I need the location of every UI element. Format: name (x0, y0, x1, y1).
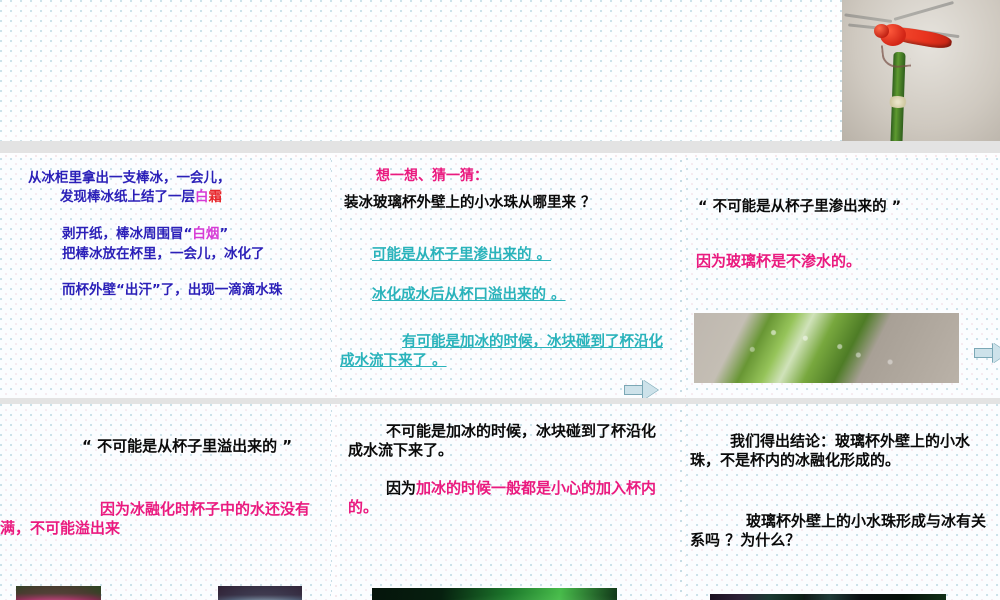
dragonfly-head-shape (874, 24, 889, 38)
slide5-statement: 不可能是加冰的时候，冰块碰到了杯沿化成水流下来了。 (348, 422, 668, 460)
slide-5-not-ice-spill[interactable]: 不可能是加冰的时候，冰块碰到了杯沿化成水流下来了。 因为加冰的时候一般都是小心的… (340, 404, 677, 600)
dark-water-drop-photo (804, 594, 946, 600)
blue-flower-photo (218, 586, 302, 600)
slide2-guess-2: 冰化成水后从杯口溢出来的 。 (372, 286, 672, 305)
slide3-quote: “ 不可能是从杯子里渗出来的 ” (698, 198, 988, 217)
red-dragonfly-photo (842, 0, 1000, 141)
slide1-baiyan-text: 白烟 (192, 226, 219, 242)
slide1-line-2-text: 发现棒冰纸上结了一层 (60, 189, 195, 205)
slide1-line-3-prefix: 剥开纸，棒冰周围冒“ (62, 226, 192, 242)
slide-1-observation[interactable]: 从冰柜里拿出一支棒冰，一会儿， 发现棒冰纸上结了一层白霜 剥开纸，棒冰周围冒“白… (0, 158, 331, 398)
arrow-head (993, 343, 1000, 363)
slide5-reason-prefix: 因为 (386, 479, 416, 497)
slide4-reason: 因为冰融化时杯子中的水还没有满，不可能溢出来 (0, 500, 310, 538)
slide-3-not-seeping[interactable]: “ 不可能是从杯子里渗出来的 ” 因为玻璃杯是不渗水的。 (686, 158, 1000, 398)
slide4-quote: “ 不可能是从杯子里溢出来的 ” (0, 437, 300, 456)
dragonfly-photo-backdrop (842, 0, 1000, 141)
next-arrow-icon[interactable] (624, 380, 658, 398)
slide3-reason: 因为玻璃杯是不渗水的。 (696, 252, 861, 271)
slide2-question: 装冰玻璃杯外壁上的小水珠从哪里来 ？ (344, 194, 596, 213)
slide1-line-3: 剥开纸，棒冰周围冒“白烟” (62, 226, 228, 243)
slide1-line-4: 把棒冰放在杯里，一会儿，冰化了 (62, 246, 265, 263)
slide1-line-3-suffix: ” (219, 226, 228, 242)
slide5-reason: 因为加冰的时候一般都是小心的加入杯内的。 (348, 479, 668, 517)
slide6-followup: 玻璃杯外壁上的小水珠形成与冰有关系吗 ？为什么？ (690, 512, 995, 550)
slide1-shuang-char: 霜 (209, 189, 223, 205)
arrow-shaft (974, 348, 995, 358)
next-arrow-icon[interactable] (974, 343, 1000, 363)
slide2-guess-1: 可能是从杯子里渗出来的 。 (372, 246, 551, 265)
top-blank-area (0, 0, 838, 141)
top-row-divider (0, 141, 1000, 153)
slide2-guess-3: 有可能是加冰的时候，冰块碰到了杯沿化成水流下来了 。 (340, 333, 677, 370)
slide1-bai-char: 白 (195, 189, 209, 205)
slide1-line-2: 发现棒冰纸上结了一层白霜 (60, 189, 222, 206)
slide-6-conclusion[interactable]: 我们得出结论：玻璃杯外壁上的小水珠，不是杯内的冰融化形成的。 玻璃杯外壁上的小水… (686, 404, 1000, 600)
slide1-line-1: 从冰柜里拿出一支棒冰，一会儿， (28, 170, 231, 187)
dark-purple-leaf-photo (710, 594, 804, 600)
slide-4-not-overflow[interactable]: “ 不可能是从杯子里溢出来的 ” 因为冰融化时杯子中的水还没有满，不可能溢出来 (0, 404, 331, 600)
slide-2-guesses[interactable]: 想一想、猜一猜： 装冰玻璃杯外壁上的小水珠从哪里来 ？ 可能是从杯子里渗出来的 … (340, 158, 677, 398)
slide6-conclusion: 我们得出结论：玻璃杯外壁上的小水珠，不是杯内的冰融化形成的。 (690, 432, 995, 470)
arrow-head (643, 380, 658, 398)
slide1-line-5: 而杯外壁“出汗”了，出现一滴滴水珠 (62, 282, 282, 299)
dark-green-leaf-photo (372, 588, 617, 600)
green-leaf-photo (694, 313, 959, 383)
arrow-shaft (624, 385, 645, 395)
pink-rose-photo (16, 586, 101, 600)
slide2-heading: 想一想、猜一猜： (376, 168, 488, 186)
